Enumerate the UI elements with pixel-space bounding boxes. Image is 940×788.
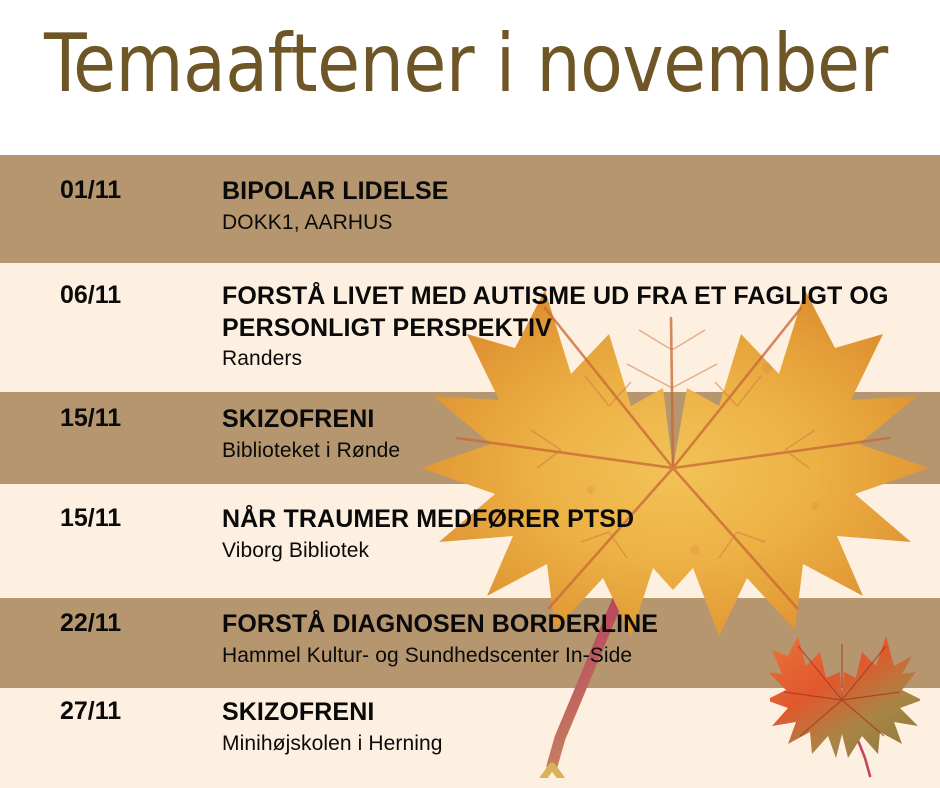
event-body: FORSTÅ DIAGNOSEN BORDERLINEHammel Kultur… bbox=[222, 609, 922, 669]
event-venue: Randers bbox=[222, 346, 922, 373]
event-date: 22/11 bbox=[60, 609, 210, 638]
event-date: 06/11 bbox=[60, 281, 210, 310]
event-venue: DOKK1, AARHUS bbox=[222, 210, 922, 237]
event-venue: Hammel Kultur- og Sundhedscenter In-Side bbox=[222, 643, 922, 670]
event-date: 27/11 bbox=[60, 697, 210, 726]
poster-canvas: Temaaftener i november 01/11BIPOLAR LIDE… bbox=[0, 0, 940, 788]
event-venue: Viborg Bibliotek bbox=[222, 538, 922, 565]
event-title: NÅR TRAUMER MEDFØRER PTSD bbox=[222, 504, 922, 536]
event-title: BIPOLAR LIDELSE bbox=[222, 176, 922, 208]
event-venue: Minihøjskolen i Herning bbox=[222, 731, 922, 758]
event-title: FORSTÅ DIAGNOSEN BORDERLINE bbox=[222, 609, 922, 641]
event-title: SKIZOFRENI bbox=[222, 404, 922, 436]
event-title: SKIZOFRENI bbox=[222, 697, 922, 729]
event-date: 01/11 bbox=[60, 176, 210, 205]
title-area: Temaaftener i november bbox=[0, 0, 940, 155]
event-venue: Biblioteket i Rønde bbox=[222, 438, 922, 465]
event-body: NÅR TRAUMER MEDFØRER PTSDViborg Bibliote… bbox=[222, 504, 922, 564]
event-body: FORSTÅ LIVET MED AUTISME UD FRA ET FAGLI… bbox=[222, 281, 922, 373]
event-body: SKIZOFRENIMinihøjskolen i Herning bbox=[222, 697, 922, 757]
event-date: 15/11 bbox=[60, 404, 210, 433]
page-title: Temaaftener i november bbox=[44, 24, 878, 104]
event-title: FORSTÅ LIVET MED AUTISME UD FRA ET FAGLI… bbox=[222, 281, 922, 344]
event-body: SKIZOFRENIBiblioteket i Rønde bbox=[222, 404, 922, 464]
event-body: BIPOLAR LIDELSEDOKK1, AARHUS bbox=[222, 176, 922, 236]
event-date: 15/11 bbox=[60, 504, 210, 533]
